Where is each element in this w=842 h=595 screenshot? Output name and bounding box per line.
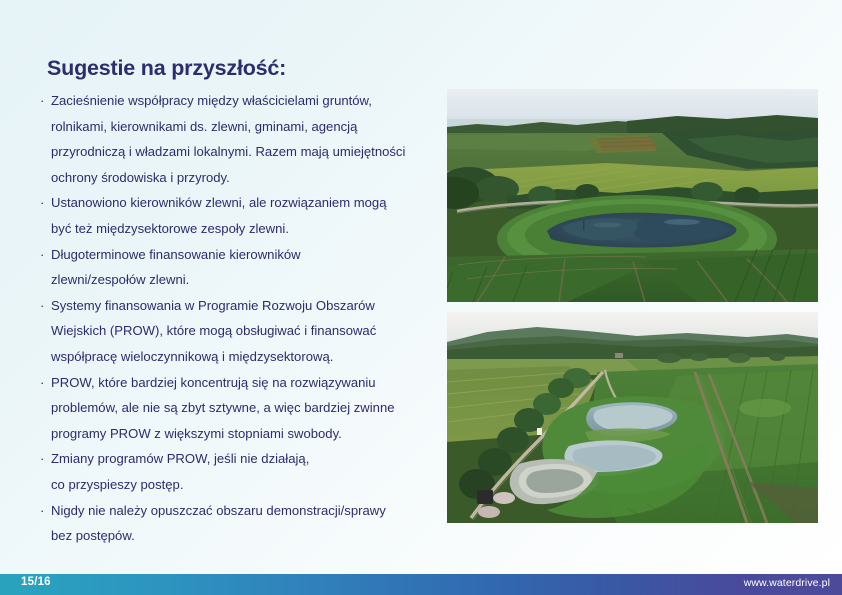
bullet-list: ·Zacieśnienie współpracy między właścici… [40, 88, 440, 549]
bullet-first-line: ·Systemy finansowania w Programie Rozwoj… [40, 293, 440, 319]
bullet-wrapped-line: zlewni/zespołów zlewni. [40, 267, 440, 293]
bullet-first-line: ·Zmiany programów PROW, jeśli nie działa… [40, 446, 440, 472]
list-item: ·Nigdy nie należy opuszczać obszaru demo… [40, 498, 440, 549]
bullet-first-line: ·Ustanowiono kierowników zlewni, ale roz… [40, 190, 440, 216]
slide-page-number: 15/16 [21, 576, 51, 588]
bullet-text: Nigdy nie należy opuszczać obszaru demon… [51, 503, 386, 518]
bullet-wrapped-line: przyrodniczą i władzami lokalnymi. Razem… [40, 139, 440, 165]
bullet-wrapped-line: bez postępów. [40, 523, 440, 549]
bullet-first-line: ·PROW, które bardziej koncentrują się na… [40, 370, 440, 396]
presentation-slide: Sugestie na przyszłość: ·Zacieśnienie ws… [0, 0, 842, 595]
bullet-wrapped-line: problemów, ale nie są zbyt sztywne, a wi… [40, 395, 440, 421]
bullet-text: Zmiany programów PROW, jeśli nie działaj… [51, 451, 309, 466]
bullet-marker-icon: · [40, 190, 51, 216]
aerial-farmland-two-ponds-image [447, 312, 818, 523]
list-item: ·Systemy finansowania w Programie Rozwoj… [40, 293, 440, 370]
list-item: ·Zacieśnienie współpracy między właścici… [40, 88, 440, 190]
bullet-wrapped-line: Wiejskich (PROW), które mogą obsługiwać … [40, 318, 440, 344]
bullet-wrapped-line: ochrony środowiska i przyrody. [40, 165, 440, 191]
bullet-wrapped-line: co przyspieszy postęp. [40, 472, 440, 498]
bullet-first-line: ·Zacieśnienie współpracy między właścici… [40, 88, 440, 114]
bullet-text: Systemy finansowania w Programie Rozwoju… [51, 298, 375, 313]
list-item: ·Zmiany programów PROW, jeśli nie działa… [40, 446, 440, 497]
bullet-text: PROW, które bardziej koncentrują się na … [51, 375, 376, 390]
bullet-marker-icon: · [40, 446, 51, 472]
photo-top-graphic [447, 89, 818, 302]
aerial-farmland-retention-pond-image [447, 89, 818, 302]
bullet-text: Długoterminowe finansowanie kierowników [51, 247, 301, 262]
bullet-text: Ustanowiono kierowników zlewni, ale rozw… [51, 195, 387, 210]
bullet-marker-icon: · [40, 498, 51, 524]
list-item: ·Ustanowiono kierowników zlewni, ale roz… [40, 190, 440, 241]
bullet-marker-icon: · [40, 88, 51, 114]
bullet-wrapped-line: być też międzysektorowe zespoły zlewni. [40, 216, 440, 242]
list-item: ·Długoterminowe finansowanie kierowników… [40, 242, 440, 293]
photo-bottom-graphic [447, 312, 818, 523]
bullet-wrapped-line: rolnikami, kierownikami ds. zlewni, gmin… [40, 114, 440, 140]
bullet-first-line: ·Długoterminowe finansowanie kierowników [40, 242, 440, 268]
footer-website-url: www.waterdrive.pl [744, 577, 830, 589]
footer-bar: 15/16 www.waterdrive.pl [0, 574, 842, 595]
bullet-text: Zacieśnienie współpracy między właścicie… [51, 93, 372, 108]
bullet-wrapped-line: współpracę wieloczynnikową i międzysekto… [40, 344, 440, 370]
bullet-marker-icon: · [40, 370, 51, 396]
list-item: ·PROW, które bardziej koncentrują się na… [40, 370, 440, 447]
bullet-marker-icon: · [40, 242, 51, 268]
page-title: Sugestie na przyszłość: [47, 56, 286, 81]
bullet-wrapped-line: programy PROW z większymi stopniami swob… [40, 421, 440, 447]
bullet-first-line: ·Nigdy nie należy opuszczać obszaru demo… [40, 498, 440, 524]
bullet-marker-icon: · [40, 293, 51, 319]
